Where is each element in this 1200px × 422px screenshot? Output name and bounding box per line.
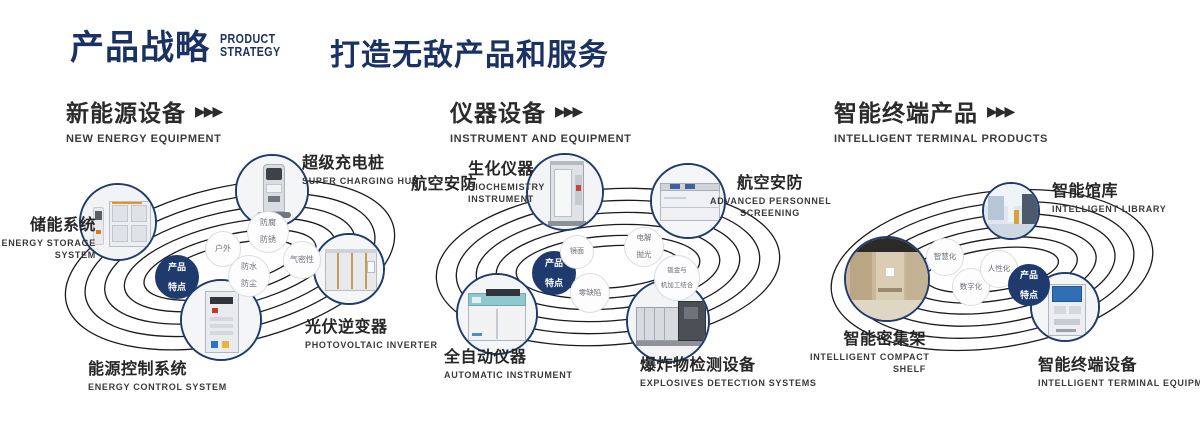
product-label-en: ADVANCED PERSONNEL SCREENING	[710, 195, 830, 219]
feature-bubble-line1: 智慧化	[934, 253, 957, 261]
product-label-cn: 储能系统	[0, 216, 96, 235]
product-label-cn: 超级充电桩	[302, 154, 419, 173]
section-subtitle-en: INTELLIGENT TERMINAL PRODUCTS	[834, 133, 1048, 145]
chevron-right-icon: ▶▶▶	[555, 104, 581, 118]
product-label-cn: 智能终端设备	[1038, 356, 1200, 375]
feature-bubble-line1: 防水	[241, 263, 257, 272]
product-label-terminal-equipment: 智能终端设备 INTELLIGENT TERMINAL EQUIPMENT	[1038, 356, 1200, 389]
product-label-compact-shelf: 智能密集架 INTELLIGENT COMPACT SHELF	[810, 330, 926, 375]
feature-bubble-sheetmetal: 钣金与 机加工结合	[654, 255, 700, 301]
feature-bubble-center: 产品 特点	[155, 255, 199, 299]
feature-bubble-anticorrosion: 防腐 防锈	[247, 211, 289, 253]
section-title-cn: 智能终端产品 ▶▶▶	[834, 94, 1048, 128]
product-label-en: ENERGY CONTROL SYSTEM	[88, 381, 227, 393]
chevron-right-icon: ▶▶▶	[195, 104, 221, 118]
product-label-en-line2: SYSTEM	[0, 249, 96, 261]
section-title-cn: 仪器设备 ▶▶▶	[450, 94, 631, 128]
section-title-new-energy: 新能源设备 ▶▶▶ NEW ENERGY EQUIPMENT	[66, 94, 221, 145]
feature-bubble-line2: 特点	[545, 278, 563, 288]
feature-bubble-waterproof: 防水 防尘	[228, 255, 270, 297]
feature-bubble-line1: 产品	[1020, 270, 1038, 280]
product-label-en-line1: INTELLIGENT COMPACT	[810, 351, 926, 363]
section-subtitle-en: NEW ENERGY EQUIPMENT	[66, 133, 221, 145]
product-circle-compact-shelf[interactable]	[844, 236, 930, 322]
page-title-en: PRODUCT STRATEGY	[220, 32, 281, 58]
feature-bubble-line1: 镜面	[570, 248, 584, 256]
feature-bubble-line1: 数字化	[960, 283, 983, 291]
product-circle-automatic-instrument[interactable]	[456, 273, 538, 355]
product-label-en-line2: SCREENING	[710, 207, 830, 219]
feature-bubble-zero-defect: 零缺陷	[570, 273, 610, 313]
product-label-en: SUPER CHARGING HUB	[302, 175, 419, 187]
feature-bubble-line1: 零缺陷	[579, 289, 602, 297]
product-label-en: INTELLIGENT COMPACT SHELF	[810, 351, 926, 375]
page-title-en-line2: STRATEGY	[220, 45, 281, 58]
product-label-energy-control: 能源控制系统 ENERGY CONTROL SYSTEM	[88, 360, 227, 393]
feature-bubble-line1: 产品	[168, 262, 186, 272]
product-label-intelligent-library: 智能馆库 INTELLIGENT LIBRARY	[1052, 182, 1166, 215]
chevron-right-icon: ▶▶▶	[987, 104, 1013, 118]
product-label-cn: 生化仪器	[468, 160, 545, 179]
intelligent-library-photo	[984, 184, 1038, 238]
product-label-en-line2: INSTRUMENT	[468, 193, 545, 205]
product-circle-intelligent-library[interactable]	[982, 182, 1040, 240]
section-title-text: 仪器设备	[450, 94, 546, 128]
feature-bubble-line1: 气密性	[290, 256, 314, 265]
feature-bubble-line1: 防腐	[260, 219, 276, 228]
feature-bubble-center: 产品 特点	[1008, 264, 1050, 306]
page-title-cn: 产品战略	[70, 28, 210, 68]
product-label-en: AUTOMATIC INSTRUMENT	[444, 369, 573, 381]
product-label-pv-inverter: 光伏逆变器 PHOTOVOLTAIC INVERTER	[305, 318, 438, 351]
feature-bubble-line1: 电解	[637, 234, 652, 242]
section-title-text: 新能源设备	[66, 94, 186, 128]
feature-bubble-line2: 特点	[1020, 290, 1038, 300]
feature-bubble-line2: 防锈	[260, 236, 276, 245]
page-subtitle: 打造无敌产品和服务	[330, 30, 609, 74]
feature-bubble-line1: 钣金与	[661, 267, 694, 274]
pv-inverter-photo	[315, 235, 383, 303]
feature-bubble-line2: 特点	[168, 282, 186, 292]
product-label-en: INTELLIGENT LIBRARY	[1052, 203, 1166, 215]
product-label-charging-hub: 超级充电桩 SUPER CHARGING HUB	[302, 154, 419, 187]
product-label-en: ENERGY STORAGE SYSTEM	[0, 237, 96, 261]
product-label-automatic-instrument: 全自动仪器 AUTOMATIC INSTRUMENT	[444, 348, 573, 381]
automatic-instrument-photo	[458, 275, 536, 353]
section-title-instrument: 仪器设备 ▶▶▶ INSTRUMENT AND EQUIPMENT	[450, 94, 631, 145]
product-label-en-line2: SHELF	[810, 363, 926, 375]
page-header: 产品战略 PRODUCT STRATEGY	[70, 28, 294, 68]
product-label-cn: 爆炸物检测设备	[640, 356, 817, 375]
feature-bubble-airtight: 气密性	[283, 241, 321, 279]
product-label-cn: 航空安防	[710, 174, 830, 193]
feature-bubble-line2: 机加工结合	[661, 282, 694, 289]
feature-bubble-smart: 智慧化	[926, 238, 964, 276]
product-label-explosives-detection: 爆炸物检测设备 EXPLOSIVES DETECTION SYSTEMS	[640, 356, 817, 389]
product-label-cn: 能源控制系统	[88, 360, 227, 379]
section-title-intelligent: 智能终端产品 ▶▶▶ INTELLIGENT TERMINAL PRODUCTS	[834, 94, 1048, 145]
product-label-en: INTELLIGENT TERMINAL EQUIPMENT	[1038, 377, 1200, 389]
feature-bubble-line1: 人性化	[988, 265, 1011, 273]
product-label-en-line1: BIOCHEMISTRY	[468, 181, 545, 193]
section-title-text: 智能终端产品	[834, 94, 978, 128]
feature-bubble-line1: 户外	[215, 245, 231, 254]
product-label-en-line1: ADVANCED PERSONNEL	[710, 195, 830, 207]
feature-bubble-mirror: 镜面	[560, 235, 594, 269]
feature-bubble-line2: 抛光	[637, 251, 652, 259]
product-label-cn: 智能馆库	[1052, 182, 1166, 201]
product-label-biochemistry: 生化仪器 BIOCHEMISTRY INSTRUMENT	[468, 160, 545, 205]
feature-bubble-electropolish: 电解 抛光	[624, 227, 664, 267]
feature-bubble-line1: 产品	[545, 258, 563, 268]
product-label-cn: 光伏逆变器	[305, 318, 438, 337]
product-label-en: EXPLOSIVES DETECTION SYSTEMS	[640, 377, 817, 389]
product-label-cn: 智能密集架	[810, 330, 926, 349]
section-title-cn: 新能源设备 ▶▶▶	[66, 94, 221, 128]
page-root: 产品战略 PRODUCT STRATEGY 打造无敌产品和服务 新能源设备 ▶▶…	[0, 0, 1200, 422]
product-circle-pv-inverter[interactable]	[313, 233, 385, 305]
product-label-en-line1: ENERGY STORAGE	[0, 237, 96, 249]
product-label-energy-storage: 储能系统 ENERGY STORAGE SYSTEM	[0, 216, 96, 261]
section-subtitle-en: INSTRUMENT AND EQUIPMENT	[450, 133, 631, 145]
feature-bubble-line2: 防尘	[241, 280, 257, 289]
product-label-cn: 全自动仪器	[444, 348, 573, 367]
product-label-en: PHOTOVOLTAIC INVERTER	[305, 339, 438, 351]
product-label-en: BIOCHEMISTRY INSTRUMENT	[468, 181, 545, 205]
compact-shelf-photo	[846, 238, 928, 320]
product-label-personnel-screening: 航空安防 ADVANCED PERSONNEL SCREENING	[710, 174, 830, 219]
